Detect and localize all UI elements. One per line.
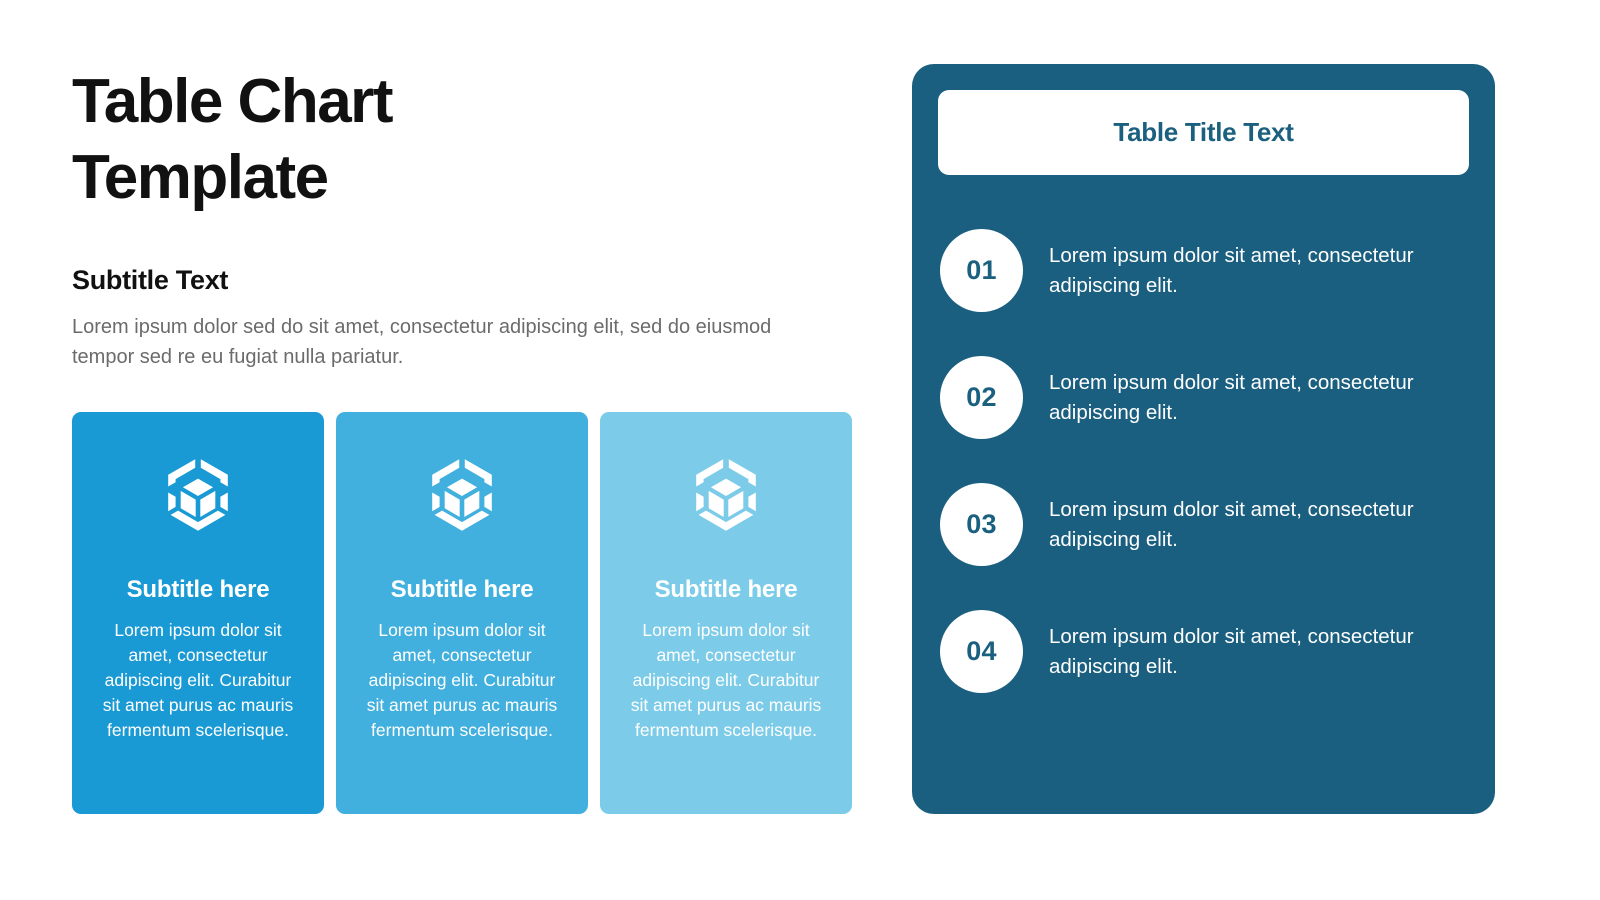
table-row[interactable]: 04 Lorem ipsum dolor sit amet, consectet… [938, 610, 1469, 693]
feature-card-body: Lorem ipsum dolor sit amet, consectetur … [94, 618, 302, 743]
subtitle-body-text: Lorem ipsum dolor sed do sit amet, conse… [72, 312, 802, 372]
row-number-badge: 04 [940, 610, 1023, 693]
table-title-text: Table Title Text [1113, 117, 1293, 148]
hexagon-cube-icon [162, 456, 234, 534]
feature-card-group: Subtitle here Lorem ipsum dolor sit amet… [72, 412, 852, 814]
feature-card-3[interactable]: Subtitle here Lorem ipsum dolor sit amet… [600, 412, 852, 814]
page-title: Table Chart Template [72, 64, 502, 217]
left-column: Table Chart Template Subtitle Text Lorem… [72, 64, 872, 372]
feature-card-2[interactable]: Subtitle here Lorem ipsum dolor sit amet… [336, 412, 588, 814]
row-number-badge: 01 [940, 229, 1023, 312]
feature-card-title: Subtitle here [391, 576, 534, 604]
table-row[interactable]: 02 Lorem ipsum dolor sit amet, consectet… [938, 356, 1469, 439]
row-description: Lorem ipsum dolor sit amet, consectetur … [1049, 368, 1469, 426]
hexagon-cube-icon [690, 456, 762, 534]
row-description: Lorem ipsum dolor sit amet, consectetur … [1049, 241, 1469, 299]
row-number-badge: 03 [940, 483, 1023, 566]
row-description: Lorem ipsum dolor sit amet, consectetur … [1049, 495, 1469, 553]
row-description: Lorem ipsum dolor sit amet, consectetur … [1049, 622, 1469, 680]
table-row[interactable]: 01 Lorem ipsum dolor sit amet, consectet… [938, 229, 1469, 312]
hexagon-cube-icon [426, 456, 498, 534]
feature-card-body: Lorem ipsum dolor sit amet, consectetur … [358, 618, 566, 743]
feature-card-title: Subtitle here [655, 576, 798, 604]
table-title-box: Table Title Text [938, 90, 1469, 175]
table-row-list: 01 Lorem ipsum dolor sit amet, consectet… [938, 229, 1469, 693]
subtitle-heading: Subtitle Text [72, 265, 872, 296]
feature-card-title: Subtitle here [127, 576, 270, 604]
table-row[interactable]: 03 Lorem ipsum dolor sit amet, consectet… [938, 483, 1469, 566]
row-number-badge: 02 [940, 356, 1023, 439]
table-panel: Table Title Text 01 Lorem ipsum dolor si… [912, 64, 1495, 814]
slide-canvas: Table Chart Template Subtitle Text Lorem… [0, 0, 1600, 900]
feature-card-body: Lorem ipsum dolor sit amet, consectetur … [622, 618, 830, 743]
feature-card-1[interactable]: Subtitle here Lorem ipsum dolor sit amet… [72, 412, 324, 814]
